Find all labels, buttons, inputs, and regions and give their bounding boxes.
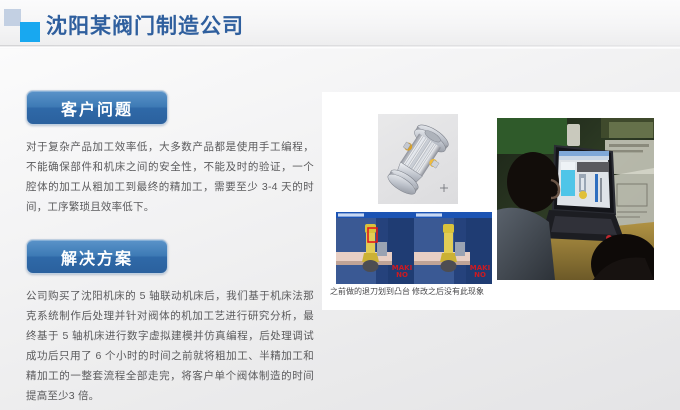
svg-text:NO: NO [396, 271, 408, 279]
origin-crosshair-icon [440, 184, 448, 192]
cnc-simulation-after: MAKI NO [414, 212, 492, 284]
svg-text:NO: NO [474, 271, 486, 279]
solution-button[interactable]: 解决方案 [26, 239, 168, 274]
header-divider-highlight [0, 47, 680, 49]
decorative-square-accent [20, 22, 40, 42]
caption-simulation-before: 之前做的退刀划到凸台 [330, 286, 408, 297]
content-left-column: 客户问题 对于复杂产品加工效率低，大多数产品都是使用手工编程，不能确保部件和机床… [26, 90, 318, 406]
customer-problem-button[interactable]: 客户问题 [26, 90, 168, 125]
engineers-reviewing-cam-on-laptop [497, 118, 654, 280]
cnc-simulation-before: MAKI NO [336, 212, 414, 284]
solution-text: 公司购买了沈阳机床的 5 轴联动机床后，我们基于机床法那克系统制作后处理并针对阀… [26, 286, 314, 406]
section-solution: 解决方案 公司购买了沈阳机床的 5 轴联动机床后，我们基于机床法那克系统制作后处… [26, 239, 318, 406]
section-customer-problem: 客户问题 对于复杂产品加工效率低，大多数产品都是使用手工编程，不能确保部件和机床… [26, 90, 318, 217]
decorative-square-light [4, 9, 21, 26]
caption-simulation-after: 修改之后没有此现象 [409, 286, 487, 297]
page-header: 沈阳某阀门制造公司 [0, 0, 680, 47]
valve-body-cad-render [378, 114, 458, 204]
header-divider [0, 45, 680, 46]
page-title: 沈阳某阀门制造公司 [46, 12, 244, 42]
customer-problem-text: 对于复杂产品加工效率低，大多数产品都是使用手工编程，不能确保部件和机床之间的安全… [26, 137, 314, 217]
